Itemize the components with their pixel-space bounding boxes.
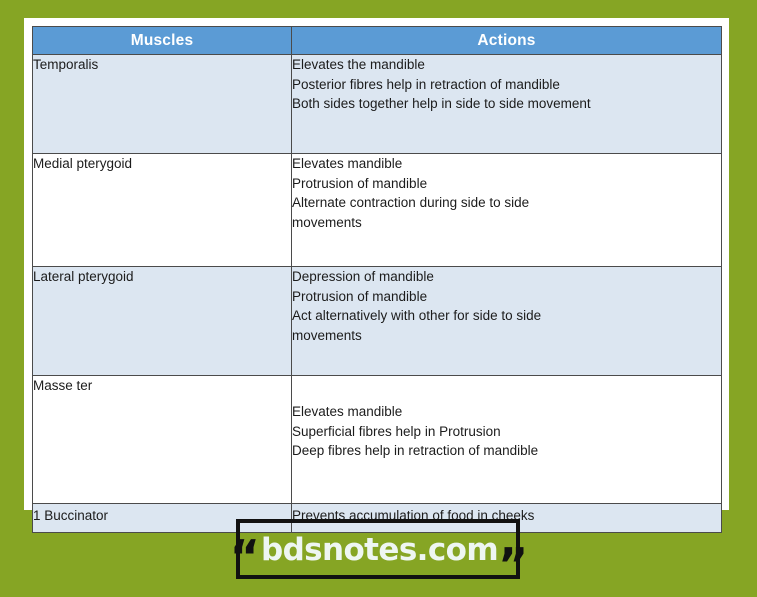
action-line: Elevates mandible [292,402,721,422]
table-header-row: Muscles Actions [33,27,722,55]
action-line: Posterior fibres help in retraction of m… [292,75,721,95]
action-line: Elevates mandible [292,154,721,174]
action-line: Superficial fibres help in Protrusion [292,422,721,442]
action-line: Elevates the mandible [292,55,721,75]
muscle-name-cell: Medial pterygoid [33,154,292,267]
muscle-name-cell: Temporalis [33,55,292,154]
logo-text: bdsnotes.com [261,535,498,566]
muscle-actions-cell: Elevates the mandible Posterior fibres h… [292,55,722,154]
action-line: Deep fibres help in retraction of mandib… [292,441,721,461]
action-line: movements [292,326,721,346]
column-header-muscles: Muscles [33,27,292,55]
table-header: Muscles Actions [33,27,722,55]
action-line: Act alternatively with other for side to… [292,306,721,326]
muscle-name-cell: Lateral pterygoid [33,267,292,376]
action-line: Alternate contraction during side to sid… [292,193,721,213]
table-row: Masse ter Elevates mandible Superficial … [33,376,722,504]
action-line: Protrusion of mandible [292,174,721,194]
muscle-actions-cell: Depression of mandible Protrusion of man… [292,267,722,376]
muscle-actions-cell: Elevates mandible Protrusion of mandible… [292,154,722,267]
muscles-actions-table: Muscles Actions Temporalis Elevates the … [32,26,722,533]
muscle-actions-cell: Elevates mandible Superficial fibres hel… [292,376,722,504]
table-row: Temporalis Elevates the mandible Posteri… [33,55,722,154]
table-container: Muscles Actions Temporalis Elevates the … [24,18,729,510]
site-watermark-logo: “ bdsnotes.com ” [236,519,520,579]
muscle-name-cell: Masse ter [33,376,292,504]
table-row: Lateral pterygoid Depression of mandible… [33,267,722,376]
action-line: Protrusion of mandible [292,287,721,307]
action-line: Both sides together help in side to side… [292,94,721,114]
logo-content: “ bdsnotes.com ” [236,519,520,579]
table-row: Medial pterygoid Elevates mandible Protr… [33,154,722,267]
table-body: Temporalis Elevates the mandible Posteri… [33,55,722,533]
action-line: movements [292,213,721,233]
action-line: Depression of mandible [292,267,721,287]
page-root: Muscles Actions Temporalis Elevates the … [0,0,757,597]
column-header-actions: Actions [292,27,722,55]
